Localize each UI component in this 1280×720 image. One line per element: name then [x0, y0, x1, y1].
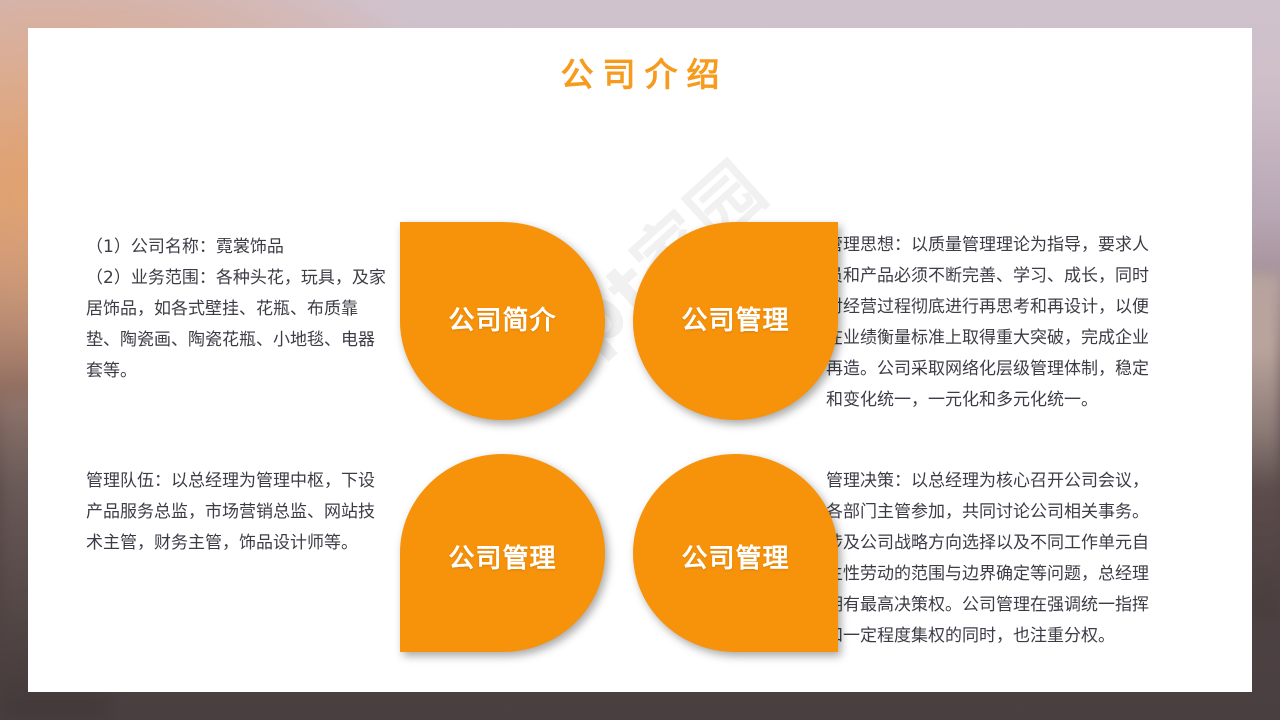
petal-label-bottom-left: 公司管理: [448, 538, 556, 575]
management-idea-paragraph: 管理思想：以质量管理理论为指导，要求人员和产品必须不断完善、学习、成长，同时对经…: [826, 230, 1156, 416]
page-title: 公司介绍: [28, 48, 1252, 96]
slide-content-card: 公司介绍 ppt家园 （1）公司名称：霓裳饰品 （2）业务范围：各种头花，玩具，…: [28, 28, 1252, 692]
petal-label-top-left: 公司简介: [448, 300, 556, 337]
petal-label-top-right: 公司管理: [681, 300, 789, 337]
petal-company-profile[interactable]: 公司简介: [400, 222, 605, 420]
petal-company-management-1[interactable]: 公司管理: [633, 222, 838, 420]
petal-company-management-3[interactable]: 公司管理: [633, 454, 838, 652]
management-team-paragraph: 管理队伍：以总经理为管理中枢，下设产品服务总监，市场营销总监、网站技术主管，财务…: [86, 466, 391, 559]
company-info-paragraph: （1）公司名称：霓裳饰品 （2）业务范围：各种头花，玩具，及家居饰品，如各式壁挂…: [86, 232, 391, 387]
petal-diagram: 公司简介 公司管理 公司管理 公司管理: [400, 222, 840, 652]
petal-label-bottom-right: 公司管理: [681, 538, 789, 575]
management-decision-paragraph: 管理决策：以总经理为核心召开公司会议，各部门主管参加，共同讨论公司相关事务。涉及…: [826, 466, 1156, 652]
petal-company-management-2[interactable]: 公司管理: [400, 454, 605, 652]
